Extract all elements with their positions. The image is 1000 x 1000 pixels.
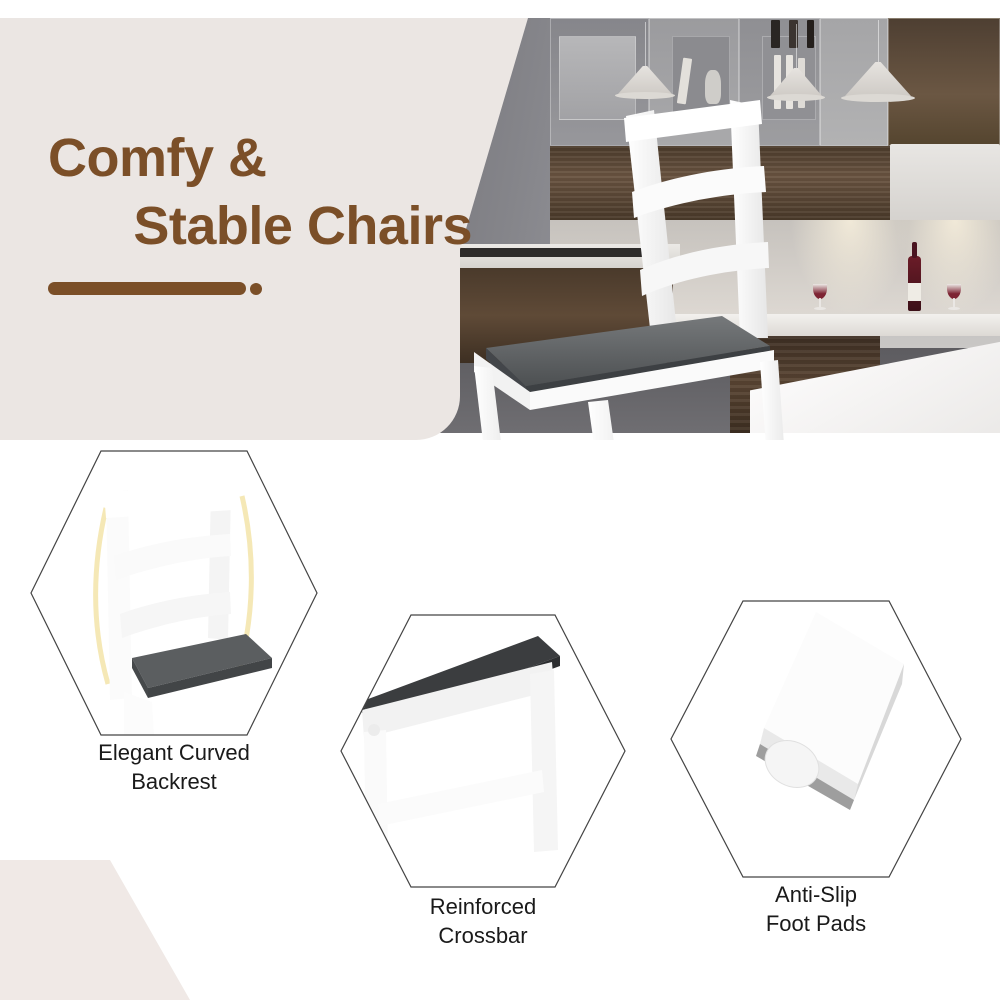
feature-caption-crossbar: Reinforced Crossbar xyxy=(338,892,628,950)
page-title: Comfy & Stable Chairs xyxy=(48,125,478,260)
chair-leg-rear-right xyxy=(760,360,790,440)
chair-leg-front-center xyxy=(588,400,636,440)
wine-glass xyxy=(947,284,961,310)
glass-stem xyxy=(953,298,955,307)
screw-cap xyxy=(368,724,380,736)
caption-line-1: Reinforced xyxy=(338,892,628,921)
wine-bottle xyxy=(908,256,921,311)
feature-callout-crossbar: Reinforced Crossbar xyxy=(338,612,628,952)
glass-foot xyxy=(948,307,959,310)
chair-back-post-right xyxy=(730,100,768,338)
chair-back-post-left xyxy=(626,110,678,346)
lamp-shade xyxy=(845,62,911,96)
leg-left xyxy=(364,730,388,864)
caption-line-1: Anti-Slip xyxy=(668,880,964,909)
corner-wedge-decoration xyxy=(0,860,210,1000)
bottle-neck xyxy=(912,242,916,258)
caption-line-2: Foot Pads xyxy=(668,909,964,938)
headline-line-2: Stable Chairs xyxy=(48,193,478,261)
accent-dot xyxy=(250,283,262,295)
lamp-cord xyxy=(645,22,646,68)
lamp-cord xyxy=(878,20,879,66)
accent-bar xyxy=(48,282,246,295)
feature-caption-backrest: Elegant Curved Backrest xyxy=(28,738,320,796)
feature-callout-backrest: Elegant Curved Backrest xyxy=(28,448,320,798)
caption-line-1: Elegant Curved xyxy=(28,738,320,767)
hexagon-frame xyxy=(28,448,320,738)
hexagon-frame xyxy=(668,598,964,880)
product-feature-graphic: Comfy & Stable Chairs xyxy=(0,0,1000,1000)
hexagon-frame xyxy=(338,612,628,890)
lamp-cord xyxy=(796,24,797,70)
pendant-lamp xyxy=(845,20,911,106)
glass-bowl xyxy=(947,284,961,299)
upper-white-cabinet-door xyxy=(890,144,1000,222)
bottle-label xyxy=(908,283,921,301)
feature-caption-foot-pads: Anti-Slip Foot Pads xyxy=(668,880,964,938)
backrest-post-left xyxy=(106,490,132,700)
caption-line-2: Crossbar xyxy=(338,921,628,950)
caption-line-2: Backrest xyxy=(28,767,320,796)
leg-right xyxy=(530,670,558,852)
headline-line-1: Comfy & xyxy=(48,128,267,188)
lamp-plate xyxy=(841,94,915,102)
hero-section: Comfy & Stable Chairs xyxy=(0,0,1000,440)
feature-callout-foot-pads: Anti-Slip Foot Pads xyxy=(668,598,964,928)
